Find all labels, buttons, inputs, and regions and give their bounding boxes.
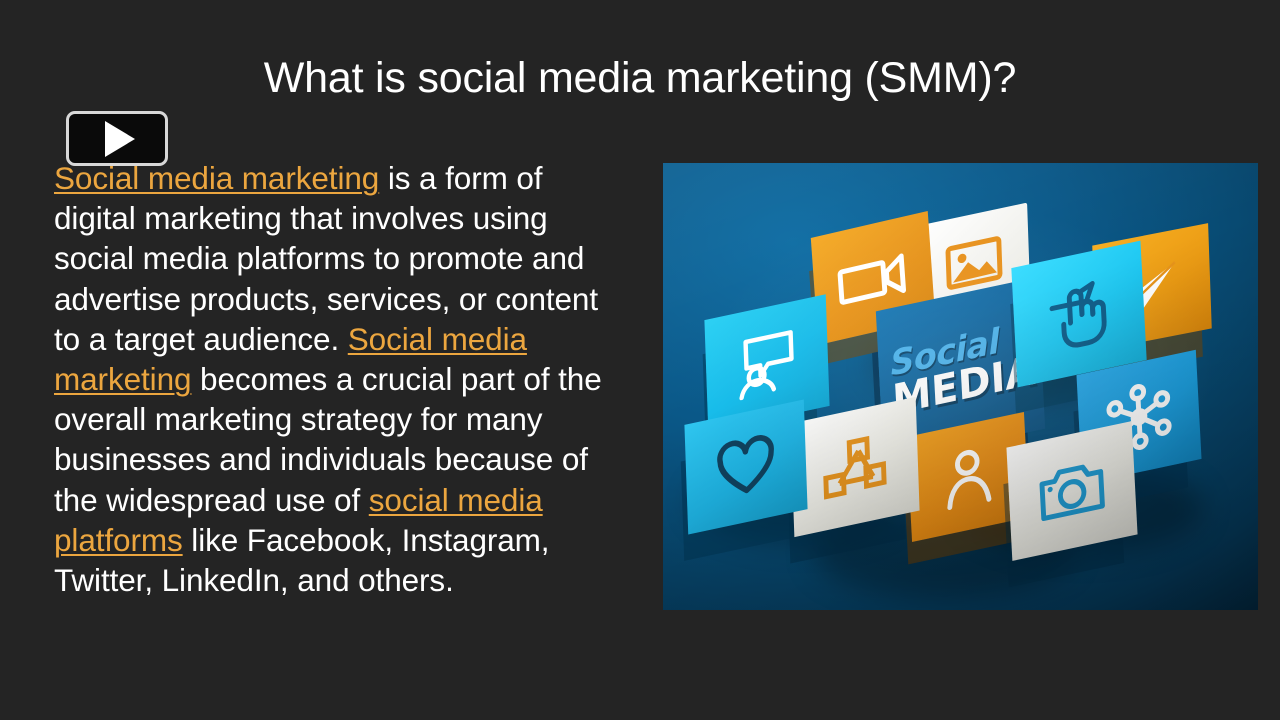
play-triangle-icon [105, 121, 135, 157]
page-title: What is social media marketing (SMM)? [0, 52, 1280, 104]
body-paragraph: Social media marketing is a form of digi… [54, 158, 626, 600]
video-play-overlay[interactable] [66, 111, 168, 166]
slide-canvas: What is social media marketing (SMM)? [0, 0, 1280, 720]
social-media-3d-cubes-image: Social MEDIA [663, 163, 1258, 610]
picture-vignette [663, 163, 1258, 610]
